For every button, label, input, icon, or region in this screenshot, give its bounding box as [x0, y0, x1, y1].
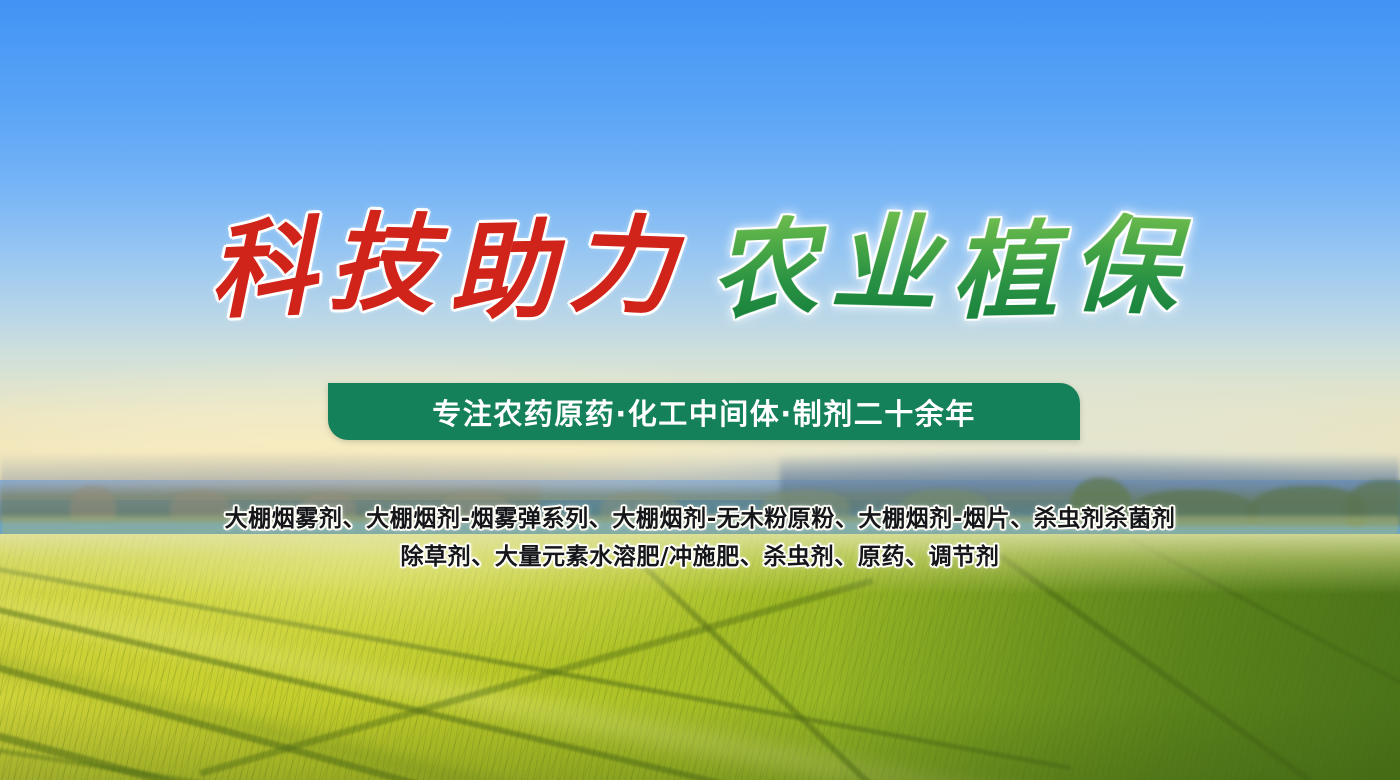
product-list: 大棚烟雾剂、大棚烟剂-烟雾弹系列、大棚烟剂-无木粉原粉、大棚烟剂-烟片、杀虫剂杀…: [0, 500, 1400, 576]
headline-red-char-1: 科: [207, 213, 332, 324]
headline-green-char-2: 业: [830, 209, 953, 318]
promo-banner: 科技助力 农业植保 专注农药原药·化工中间体·制剂二十余年 大棚烟雾剂、大棚烟剂…: [0, 0, 1400, 780]
headline-red-text: 科技助力: [209, 214, 689, 320]
headline-red-char-4: 力: [567, 211, 691, 321]
subtitle-text: 专注农药原药·化工中间体·制剂二十余年: [432, 391, 976, 433]
headline-red-char-2: 技: [328, 209, 451, 318]
headline-green-char-4: 保: [1069, 211, 1193, 321]
headline-green-char-3: 植: [950, 217, 1072, 325]
headline-green-text: 农业植保: [711, 214, 1191, 320]
subtitle-bar: 专注农药原药·化工中间体·制剂二十余年: [328, 383, 1080, 440]
headline-green-char-1: 农: [709, 213, 834, 324]
product-line-2: 除草剂、大量元素水溶肥/冲施肥、杀虫剂、原药、调节剂: [0, 538, 1400, 576]
product-line-1: 大棚烟雾剂、大棚烟剂-烟雾弹系列、大棚烟剂-无木粉原粉、大棚烟剂-烟片、杀虫剂杀…: [0, 500, 1400, 538]
headline-red-char-3: 助: [448, 217, 570, 325]
headline: 科技助力 农业植保: [0, 214, 1400, 320]
